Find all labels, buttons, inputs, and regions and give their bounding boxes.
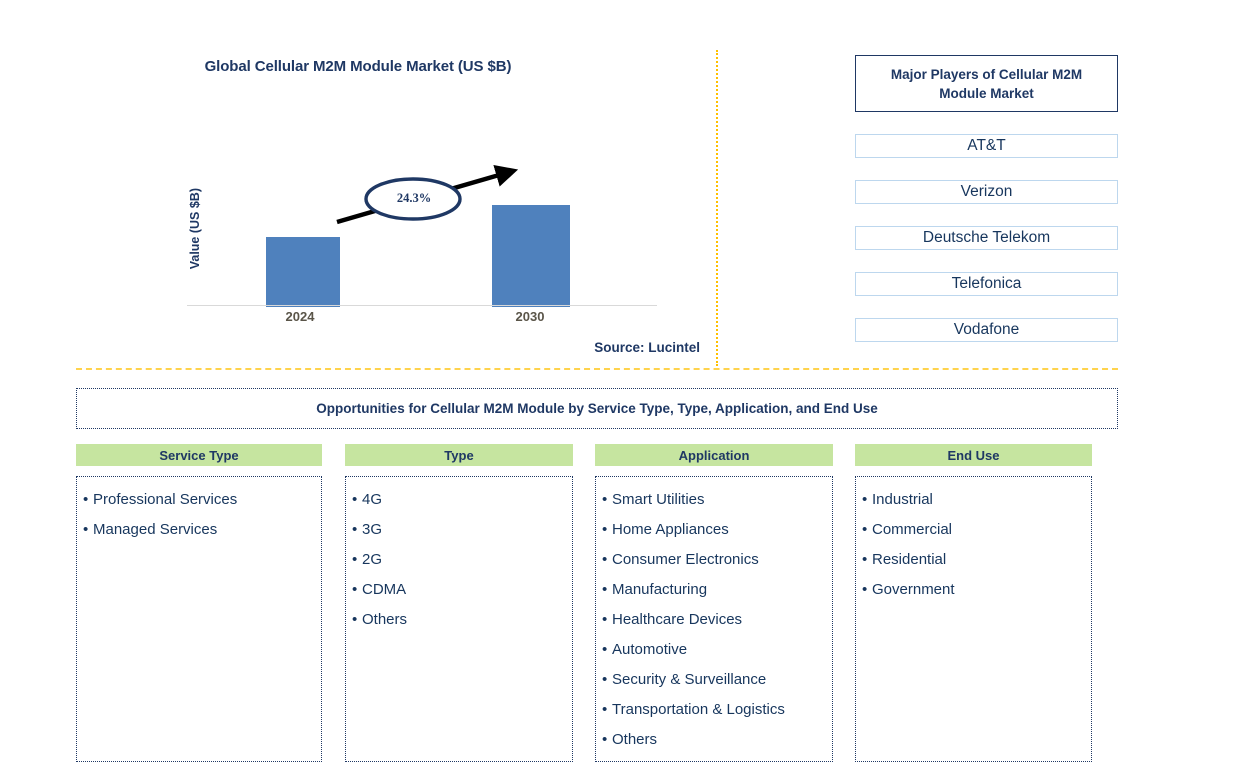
list-item-label: Healthcare Devices	[612, 611, 742, 628]
chart-x-axis-line	[187, 305, 657, 306]
list-item: •Automotive	[602, 635, 826, 665]
bullet-icon: •	[83, 515, 93, 545]
vertical-divider	[716, 50, 718, 366]
list-item-label: 3G	[362, 521, 382, 538]
list-item: •Commercial	[862, 515, 1085, 545]
bar-2024	[266, 237, 340, 307]
bullet-icon: •	[602, 725, 612, 755]
list-item: •Smart Utilities	[602, 485, 826, 515]
list-item: •Government	[862, 575, 1085, 605]
bullet-icon: •	[352, 515, 362, 545]
column-header-end-use: End Use	[855, 444, 1092, 466]
list-item: •3G	[352, 515, 566, 545]
bullet-icon: •	[83, 485, 93, 515]
bullet-icon: •	[352, 605, 362, 635]
list-item-label: Managed Services	[93, 521, 217, 538]
market-chart-panel: Global Cellular M2M Module Market (US $B…	[0, 40, 716, 370]
opportunity-column-service-type: Service Type •Professional Services•Mana…	[76, 444, 322, 762]
column-header-service-type: Service Type	[76, 444, 322, 466]
player-item-telefonica[interactable]: Telefonica	[855, 272, 1118, 296]
list-item: •Healthcare Devices	[602, 605, 826, 635]
x-tick-label-2024: 2024	[255, 309, 345, 324]
list-item-label: Government	[872, 581, 955, 598]
player-label: Deutsche Telekom	[923, 229, 1050, 247]
list-item: •Residential	[862, 545, 1085, 575]
bullet-icon: •	[602, 695, 612, 725]
list-item: •Transportation & Logistics	[602, 695, 826, 725]
horizontal-divider	[76, 368, 1118, 370]
column-body-type: •4G•3G•2G•CDMA•Others	[345, 476, 573, 762]
x-tick-label-2030: 2030	[485, 309, 575, 324]
column-body-application: •Smart Utilities•Home Appliances•Consume…	[595, 476, 833, 762]
list-item-label: Professional Services	[93, 491, 237, 508]
bullet-icon: •	[602, 635, 612, 665]
list-item-label: Industrial	[872, 491, 933, 508]
list-item-label: Others	[612, 731, 657, 748]
list-item-label: Residential	[872, 551, 946, 568]
chart-title: Global Cellular M2M Module Market (US $B…	[0, 58, 716, 75]
bullet-icon: •	[352, 545, 362, 575]
list-item: •Managed Services	[83, 515, 315, 545]
bullet-icon: •	[602, 515, 612, 545]
infographic-canvas: Global Cellular M2M Module Market (US $B…	[0, 0, 1245, 783]
opportunities-title-box: Opportunities for Cellular M2M Module by…	[76, 388, 1118, 429]
opportunity-column-end-use: End Use •Industrial•Commercial•Residenti…	[855, 444, 1092, 762]
list-item: •4G	[352, 485, 566, 515]
list-item-label: Home Appliances	[612, 521, 729, 538]
list-item-label: Automotive	[612, 641, 687, 658]
major-players-panel: Major Players of Cellular M2M Module Mar…	[855, 55, 1118, 342]
list-item-label: Others	[362, 611, 407, 628]
bullet-icon: •	[352, 485, 362, 515]
player-label: Telefonica	[952, 275, 1022, 293]
bullet-icon: •	[602, 545, 612, 575]
list-item: •Others	[352, 605, 566, 635]
bullet-icon: •	[862, 575, 872, 605]
list-item: •CDMA	[352, 575, 566, 605]
player-item-verizon[interactable]: Verizon	[855, 180, 1118, 204]
list-item: •2G	[352, 545, 566, 575]
opportunities-title: Opportunities for Cellular M2M Module by…	[316, 401, 878, 416]
list-item: •Security & Surveillance	[602, 665, 826, 695]
bullet-icon: •	[602, 605, 612, 635]
list-item: •Others	[602, 725, 826, 755]
list-item: •Manufacturing	[602, 575, 826, 605]
list-item-label: Security & Surveillance	[612, 671, 766, 688]
bullet-icon: •	[602, 665, 612, 695]
player-item-deutsche-telekom[interactable]: Deutsche Telekom	[855, 226, 1118, 250]
player-label: Verizon	[961, 183, 1013, 201]
list-item-label: Commercial	[872, 521, 952, 538]
list-item-label: Transportation & Logistics	[612, 701, 785, 718]
list-item: •Home Appliances	[602, 515, 826, 545]
list-item-label: Smart Utilities	[612, 491, 705, 508]
list-item-label: CDMA	[362, 581, 406, 598]
list-item-label: 4G	[362, 491, 382, 508]
opportunity-column-application: Application •Smart Utilities•Home Applia…	[595, 444, 833, 762]
column-body-end-use: •Industrial•Commercial•Residential•Gover…	[855, 476, 1092, 762]
list-item-label: Manufacturing	[612, 581, 707, 598]
list-item: •Professional Services	[83, 485, 315, 515]
list-item-label: 2G	[362, 551, 382, 568]
list-item-label: Consumer Electronics	[612, 551, 759, 568]
opportunity-column-type: Type •4G•3G•2G•CDMA•Others	[345, 444, 573, 762]
bullet-icon: •	[602, 485, 612, 515]
bullet-icon: •	[352, 575, 362, 605]
bullet-icon: •	[862, 515, 872, 545]
bullet-icon: •	[602, 575, 612, 605]
major-players-header: Major Players of Cellular M2M Module Mar…	[855, 55, 1118, 112]
player-label: AT&T	[967, 137, 1005, 155]
list-item: •Consumer Electronics	[602, 545, 826, 575]
column-body-service-type: •Professional Services•Managed Services	[76, 476, 322, 762]
player-item-vodafone[interactable]: Vodafone	[855, 318, 1118, 342]
chart-source-note: Source: Lucintel	[0, 340, 700, 355]
player-label: Vodafone	[954, 321, 1020, 339]
column-header-type: Type	[345, 444, 573, 466]
column-header-application: Application	[595, 444, 833, 466]
player-item-att[interactable]: AT&T	[855, 134, 1118, 158]
cagr-value-label: 24.3%	[366, 191, 462, 206]
bullet-icon: •	[862, 485, 872, 515]
bullet-icon: •	[862, 545, 872, 575]
list-item: •Industrial	[862, 485, 1085, 515]
